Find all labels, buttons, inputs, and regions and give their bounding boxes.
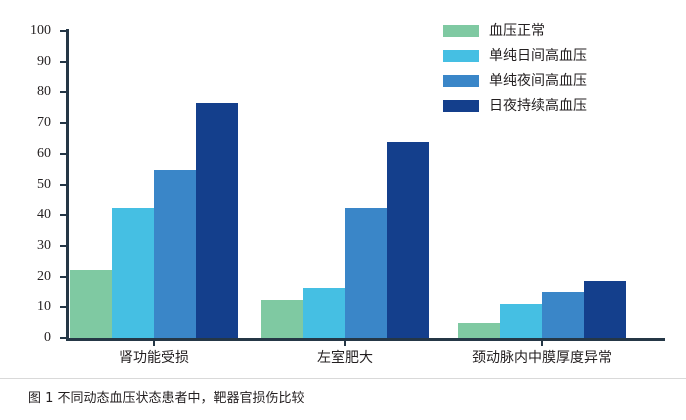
- y-tick: 30: [60, 245, 67, 247]
- legend-label: 日夜持续高血压: [489, 99, 587, 113]
- legend-label: 血压正常: [489, 24, 545, 38]
- y-tick: 90: [60, 61, 67, 63]
- y-tick: 100: [60, 30, 67, 32]
- y-tick: 40: [60, 214, 67, 216]
- y-tick: 80: [60, 91, 67, 93]
- x-tick: [541, 339, 543, 346]
- legend-swatch-icon: [443, 50, 479, 62]
- legend-label: 单纯日间高血压: [489, 49, 587, 63]
- legend-item[interactable]: 单纯夜间高血压: [443, 68, 673, 93]
- legend-swatch-icon: [443, 100, 479, 112]
- figure: 0102030405060708090100 肾功能受损左室肥大颈动脉内中膜厚度…: [0, 0, 686, 420]
- bar: [112, 208, 154, 338]
- bar: [196, 103, 238, 338]
- y-tick-label: 30: [37, 239, 51, 253]
- x-tick-label: 颈动脉内中膜厚度异常: [472, 351, 612, 365]
- legend-item[interactable]: 血压正常: [443, 18, 673, 43]
- x-tick-label: 肾功能受损: [119, 351, 189, 365]
- bar: [345, 208, 387, 338]
- y-tick-label: 80: [37, 85, 51, 99]
- y-tick-label: 60: [37, 147, 51, 161]
- x-tick: [344, 339, 346, 346]
- y-tick: 20: [60, 276, 67, 278]
- y-tick-label: 0: [44, 331, 51, 345]
- legend-swatch-icon: [443, 75, 479, 87]
- x-tick: [153, 339, 155, 346]
- chart-legend: 血压正常单纯日间高血压单纯夜间高血压日夜持续高血压: [443, 18, 673, 118]
- y-tick-label: 50: [37, 178, 51, 192]
- bar: [154, 170, 196, 338]
- legend-swatch-icon: [443, 25, 479, 37]
- bar: [458, 323, 500, 338]
- y-tick: 60: [60, 153, 67, 155]
- bar: [500, 304, 542, 338]
- bar: [387, 142, 429, 338]
- bar: [261, 300, 303, 338]
- x-axis-line: [66, 338, 665, 341]
- y-tick-label: 100: [30, 24, 51, 38]
- bar-chart: 0102030405060708090100 肾功能受损左室肥大颈动脉内中膜厚度…: [0, 0, 686, 378]
- bar: [70, 270, 112, 338]
- bar: [584, 281, 626, 338]
- caption-divider: [0, 378, 686, 379]
- y-tick: 70: [60, 122, 67, 124]
- figure-caption: 图 1 不同动态血压状态患者中，靶器官损伤比较: [28, 392, 305, 405]
- y-tick: 0: [60, 337, 67, 339]
- legend-item[interactable]: 日夜持续高血压: [443, 93, 673, 118]
- y-tick-label: 40: [37, 208, 51, 222]
- bar: [542, 292, 584, 338]
- y-tick: 50: [60, 184, 67, 186]
- x-tick-label: 左室肥大: [317, 351, 373, 365]
- y-tick: 10: [60, 306, 67, 308]
- y-tick-label: 20: [37, 270, 51, 284]
- y-tick-label: 10: [37, 300, 51, 314]
- legend-label: 单纯夜间高血压: [489, 74, 587, 88]
- legend-item[interactable]: 单纯日间高血压: [443, 43, 673, 68]
- bar: [303, 288, 345, 338]
- y-tick-label: 70: [37, 116, 51, 130]
- y-tick-label: 90: [37, 55, 51, 69]
